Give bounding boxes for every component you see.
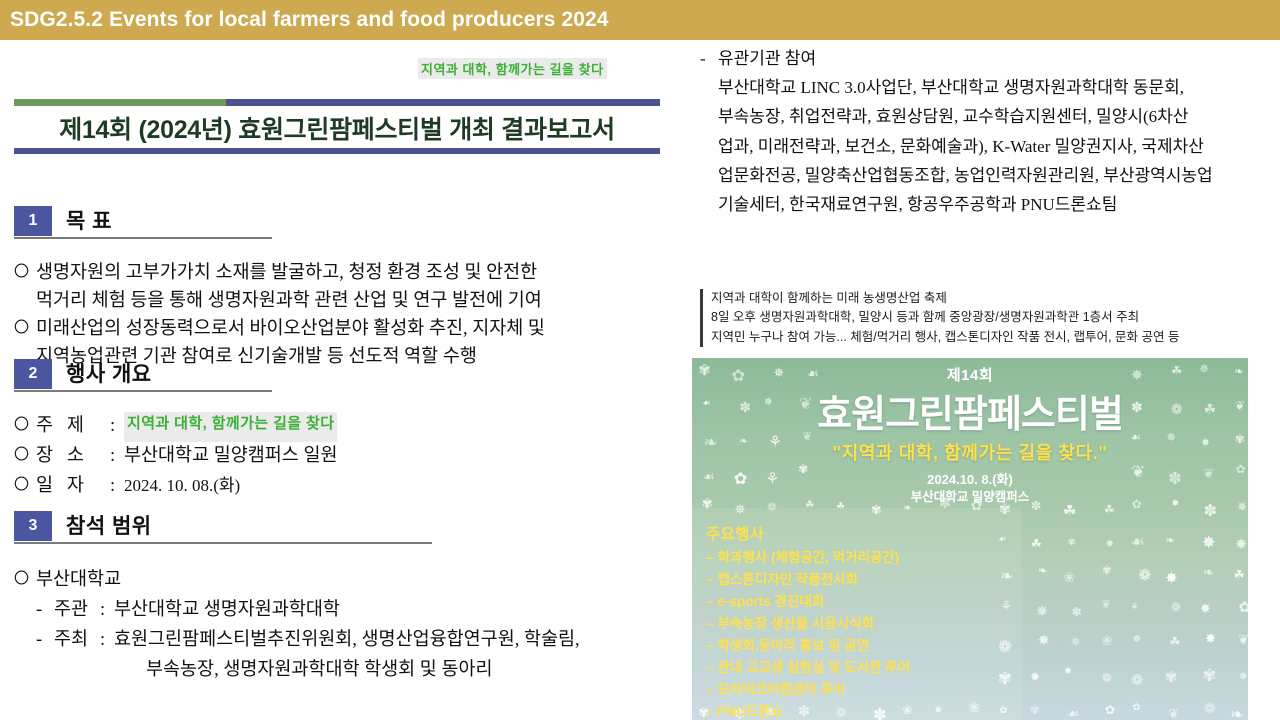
list-item: - 주최 : 효원그린팜페스티벌추진위원회, 생명산업융합연구원, 학술림, 부… (14, 626, 684, 686)
poster-silhouette-icon: ✵ (1071, 636, 1081, 648)
participating-organizations: - 유관기관 참여 부산대학교 LINC 3.0사업단, 부산대학교 생명자원과… (700, 44, 1280, 219)
poster-silhouette-icon: ✾ (1068, 538, 1076, 547)
section-attendance: 3 참석 범위 (14, 509, 432, 544)
poster-silhouette-icon: ❀ (1064, 572, 1075, 586)
field-label: 주최 (54, 626, 100, 656)
callout-line: 지역과 대학이 함께하는 미래 농생명산업 축제 (711, 289, 1280, 308)
section-header: 2 행사 개요 (14, 357, 272, 389)
poster-silhouette-icon: ❧ (1038, 566, 1047, 577)
rule-segment-green (14, 99, 226, 106)
poster-silhouette-icon: ❧ (1203, 567, 1215, 581)
section-header: 1 목 표 (14, 204, 272, 236)
participating-organizations-header: - 유관기관 참여 (700, 44, 1280, 73)
poster-silhouette-icon: ✿ (1133, 703, 1141, 713)
bullet-marker: 〇 (14, 442, 36, 468)
poster-silhouette-icon: ❧ (1165, 535, 1175, 547)
field-organizer-line2: 부속농장, 생명자원과학대학 학생회 및 동아리 (54, 656, 684, 686)
title-rule-top (14, 99, 660, 106)
dash-marker: – (706, 550, 718, 565)
organization-line: 업과, 미래전략과, 보건소, 문화예술과), K-Water 밀양권지사, 국… (718, 132, 1280, 161)
title-rule-bottom (14, 148, 660, 154)
field-value-highlighted: 지역과 대학, 함께가는 길을 찾다 (124, 412, 337, 442)
poster-title: 효원그린팜페스티벌 (692, 383, 1248, 438)
poster-event-item: –모자익코어랩센터 투어 (706, 679, 1006, 701)
poster-event-label: 캡스톤디자인 작품전시회 (718, 572, 858, 587)
field-label: 주 제 (36, 412, 110, 442)
bullet-marker: 〇 (14, 566, 36, 592)
field-organizer-line1: 주최 : 효원그린팜페스티벌추진위원회, 생명산업융합연구원, 학술림, (54, 626, 684, 656)
poster-silhouette-icon: ✸ (1036, 604, 1048, 619)
poster-silhouette-icon: ❁ (1171, 602, 1181, 614)
section-attendance-body: 〇 부산대학교 - 주관 : 부산대학교 생명자원과학대학 - 주최 : 효원그… (14, 566, 684, 686)
bullet-marker: 〇 (14, 472, 36, 498)
field-label: 주관 (54, 596, 100, 626)
poster-silhouette-icon: ☙ (1067, 708, 1079, 720)
poster-event-list-heading: 주요행사 (706, 522, 1006, 544)
poster-silhouette-icon: ☘ (1063, 504, 1077, 520)
organization-line: 기술세터, 한국재료연구원, 항공우주공학과 PNU드론쇼팀 (718, 190, 1280, 219)
poster-silhouette-icon: ✿ (1238, 601, 1248, 616)
organization-line: 업문화전공, 밀양축산업협동조합, 농업인력자원관리원, 부산광역시농업 (718, 161, 1280, 190)
dash-marker: - (36, 626, 54, 656)
field-host: 주관 : 부산대학교 생명자원과학대학 (54, 596, 684, 626)
bullet-text: 생명자원의 고부가가치 소재를 발굴하고, 청정 환경 조성 및 안전한 먹거리… (36, 259, 684, 315)
poster-silhouette-icon: ✸ (1205, 633, 1216, 647)
poster-silhouette-icon: ☘ (1169, 636, 1180, 649)
poster-event-label: 학생회.동아리 홍보 및 공연 (718, 638, 870, 653)
poster-event-label: 학과행사 (체험공간, 먹거리공간) (718, 550, 900, 565)
poster-subtitle: "지역과 대학, 함께가는 길을 찾다." (692, 439, 1248, 465)
field-separator: : (110, 412, 124, 442)
poster-silhouette-icon: ✸ (1165, 571, 1178, 586)
poster-silhouette-icon: ✾ (1030, 704, 1040, 716)
header-bar: SDG2.5.2 Events for local farmers and fo… (0, 0, 1280, 40)
bullet-marker: 〇 (14, 259, 36, 285)
field-subject: 주 제 : 지역과 대학, 함께가는 길을 찾다 (36, 412, 684, 442)
poster-silhouette-icon: ☘ (1104, 504, 1115, 517)
poster-silhouette-icon: ❁ (1102, 672, 1112, 685)
poster-silhouette-icon: ☙ (1130, 534, 1144, 550)
section-overview-body: 〇 주 제 : 지역과 대학, 함께가는 길을 찾다 〇 장 소 : 부산대학교… (14, 412, 684, 502)
section-title: 목 표 (52, 205, 112, 236)
poster-silhouette-icon: ✸ (1200, 603, 1211, 616)
organization-name: 부산대학교 (36, 566, 684, 596)
poster-silhouette-icon: ✸ (1038, 634, 1050, 648)
poster-silhouette-icon: ❦ (1168, 708, 1179, 720)
poster-date: 2024.10. 8.(화) (692, 471, 1248, 489)
section-number: 3 (14, 511, 52, 541)
field-separator: : (110, 472, 124, 502)
news-callout: 지역과 대학이 함께하는 미래 농생명산업 축제 8일 오후 생명자원과학대학,… (700, 289, 1280, 347)
field-value: 부산대학교 밀양캠퍼스 일원 (124, 442, 338, 472)
poster-silhouette-icon: ✾ (871, 504, 882, 517)
poster-silhouette-icon: ✾ (1165, 671, 1177, 686)
poster-silhouette-icon: ✸ (1105, 539, 1114, 549)
poster-silhouette-icon: ❁ (1133, 635, 1141, 644)
poster-event-item: –관내 고교생 실험실 및 도서관 투어 (706, 657, 1006, 679)
field-value: 부산대학교 생명자원과학대학 (114, 596, 340, 626)
section-overview: 2 행사 개요 (14, 357, 272, 392)
poster-event-item: –PNU드론쇼 (706, 701, 1006, 720)
dash-marker: – (706, 638, 718, 653)
poster-silhouette-icon: ❁ (1131, 674, 1143, 689)
list-item: 〇 일 자 : 2024. 10. 08.(화) (14, 472, 684, 502)
poster-silhouette-icon: ❦ (1238, 634, 1248, 648)
poster-event-label: 모자익코어랩센터 투어 (718, 682, 846, 697)
poster-silhouette-icon: ✸ (1030, 671, 1040, 683)
organization-line: 부속농장, 취업전략과, 효원상담원, 교수학습지원센터, 밀양시(6차산 (718, 102, 1280, 131)
poster-silhouette-icon: ✿ (1105, 704, 1115, 716)
list-item: 〇 주 제 : 지역과 대학, 함께가는 길을 찾다 (14, 412, 684, 442)
field-value: 효원그린팜페스티벌추진위원회, 생명산업융합연구원, 학술림, (114, 626, 580, 656)
callout-line: 지역민 누구나 참여 가능... 체험/먹거리 행사, 캡스톤디자인 작품 전시… (711, 328, 1280, 347)
poster-event-label: 관내 고교생 실험실 및 도서관 투어 (718, 660, 911, 675)
slide-page: SDG2.5.2 Events for local farmers and fo… (0, 0, 1280, 720)
page-title: SDG2.5.2 Events for local farmers and fo… (0, 8, 609, 32)
poster-event-item: –학과행사 (체험공간, 먹거리공간) (706, 547, 1006, 569)
participating-organizations-list: 부산대학교 LINC 3.0사업단, 부산대학교 생명자원과학대학 동문회, 부… (700, 73, 1280, 219)
poster-silhouette-icon: ✸ (1238, 671, 1248, 683)
document-title: 제14회 (2024년) 효원그린팜페스티벌 개최 결과보고서 (0, 110, 674, 146)
poster-venue: 부산대학교 밀양캠퍼스 (692, 489, 1248, 506)
poster-silhouette-icon: ❁ (1204, 702, 1216, 716)
list-item: 〇 장 소 : 부산대학교 밀양캠퍼스 일원 (14, 442, 684, 472)
field-label: 장 소 (36, 442, 110, 472)
callout-line: 8일 오후 생명자원과학대학, 밀양시 등과 함께 중앙광장/생명자원과학관 1… (711, 308, 1280, 327)
poster-event-list: 주요행사 –학과행사 (체험공간, 먹거리공간)–캡스톤디자인 작품전시회–e-… (706, 522, 1006, 720)
poster-event-item: –e-sports 경진대회 (706, 591, 1006, 613)
dash-marker: – (706, 682, 718, 697)
dash-marker: – (706, 660, 718, 675)
field-separator: : (100, 596, 114, 626)
dash-marker: – (706, 704, 718, 719)
field-location: 장 소 : 부산대학교 밀양캠퍼스 일원 (36, 442, 684, 472)
section-goal-body: 〇 생명자원의 고부가가치 소재를 발굴하고, 청정 환경 조성 및 안전한 먹… (14, 259, 684, 371)
poster-silhouette-icon: ❁ (1138, 568, 1151, 583)
section-number: 2 (14, 359, 52, 389)
section-title: 행사 개요 (52, 358, 152, 389)
poster-silhouette-icon: ✸ (1235, 538, 1247, 553)
poster-kicker: 제14회 (692, 364, 1248, 385)
section-underline (14, 390, 272, 392)
dash-marker: – (706, 616, 718, 631)
bullet-line: 미래산업의 성장동력으로서 바이오산업분야 활성화 추진, 지자체 및 (36, 315, 684, 343)
report-document: 지역과 대학, 함께가는 길을 찾다 제14회 (2024년) 효원그린팜페스티… (0, 44, 690, 720)
section-underline (14, 542, 432, 544)
bullet-line: 생명자원의 고부가가치 소재를 발굴하고, 청정 환경 조성 및 안전한 (36, 259, 684, 287)
poster-event-label: 부속농장 생산물 시음시식회 (718, 616, 875, 631)
section-underline (14, 237, 272, 239)
field-date: 일 자 : 2024. 10. 08.(화) (36, 472, 684, 502)
poster-silhouette-icon: ☘ (1234, 569, 1245, 582)
poster-silhouette-icon: ✽ (1072, 606, 1082, 618)
field-value: 2024. 10. 08.(화) (124, 472, 240, 502)
bullet-marker: 〇 (14, 412, 36, 438)
field-separator: : (110, 442, 124, 472)
poster-event-label: e-sports 경진대회 (718, 594, 825, 609)
field-organizer: 주최 : 효원그린팜페스티벌추진위원회, 생명산업융합연구원, 학술림, 부속농… (54, 626, 684, 686)
poster-silhouette-icon: ✾ (1202, 667, 1216, 684)
poster-silhouette-icon: ❦ (1101, 599, 1111, 611)
list-item: 〇 부산대학교 (14, 566, 684, 596)
festival-poster: ✾✿✵☙✸☘✵❧☙✽✵❦✽❁☘❦❧❧⚘❦☙✵✸✾☙✿⚘✾❦✽❦✿✾✵❁☘☘✾❧✽… (692, 358, 1248, 720)
poster-event-item: –캡스톤디자인 작품전시회 (706, 569, 1006, 591)
poster-silhouette-icon: ✾ (1102, 565, 1111, 576)
list-item: 〇 생명자원의 고부가가치 소재를 발굴하고, 청정 환경 조성 및 안전한 먹… (14, 259, 684, 315)
field-label: 일 자 (36, 472, 110, 502)
poster-event-items: –학과행사 (체험공간, 먹거리공간)–캡스톤디자인 작품전시회–e-sport… (706, 547, 1006, 720)
dash-marker: - (36, 596, 54, 626)
poster-event-label: PNU드론쇼 (718, 704, 784, 719)
poster-silhouette-icon: ❀ (1101, 635, 1112, 649)
poster-silhouette-icon: ✸ (1064, 667, 1072, 677)
section-number: 1 (14, 206, 52, 236)
organization-line: 부산대학교 LINC 3.0사업단, 부산대학교 생명자원과학대학 동문회, (718, 73, 1280, 102)
dash-marker: - (700, 44, 718, 73)
field-separator: : (100, 626, 114, 656)
document-tagline: 지역과 대학, 함께가는 길을 찾다 (418, 58, 607, 79)
bullet-line: 먹거리 체험 등을 통해 생명자원과학 관련 산업 및 연구 발전에 기여 (36, 287, 684, 315)
poster-event-item: –부속농장 생산물 시음시식회 (706, 613, 1006, 635)
dash-marker: – (706, 572, 718, 587)
poster-silhouette-icon: ☘ (1031, 538, 1042, 550)
section-goal: 1 목 표 (14, 204, 272, 239)
poster-silhouette-icon: ❧ (1230, 707, 1244, 720)
poster-silhouette-icon: ⚘ (1130, 603, 1139, 613)
dash-marker: – (706, 594, 718, 609)
list-item: - 주관 : 부산대학교 생명자원과학대학 (14, 596, 684, 626)
poster-event-item: –학생회.동아리 홍보 및 공연 (706, 635, 1006, 657)
right-column: - 유관기관 참여 부산대학교 LINC 3.0사업단, 부산대학교 생명자원과… (700, 44, 1280, 720)
poster-headline-block: 제14회 효원그린팜페스티벌 "지역과 대학, 함께가는 길을 찾다." 202… (692, 364, 1248, 505)
participating-organizations-label: 유관기관 참여 (718, 44, 816, 73)
bullet-marker: 〇 (14, 315, 36, 341)
section-title: 참석 범위 (52, 510, 152, 541)
section-header: 3 참석 범위 (14, 509, 432, 541)
poster-silhouette-icon: ✸ (1202, 535, 1216, 552)
rule-segment-navy (226, 99, 660, 106)
poster-silhouette-icon: ✵ (734, 504, 745, 518)
